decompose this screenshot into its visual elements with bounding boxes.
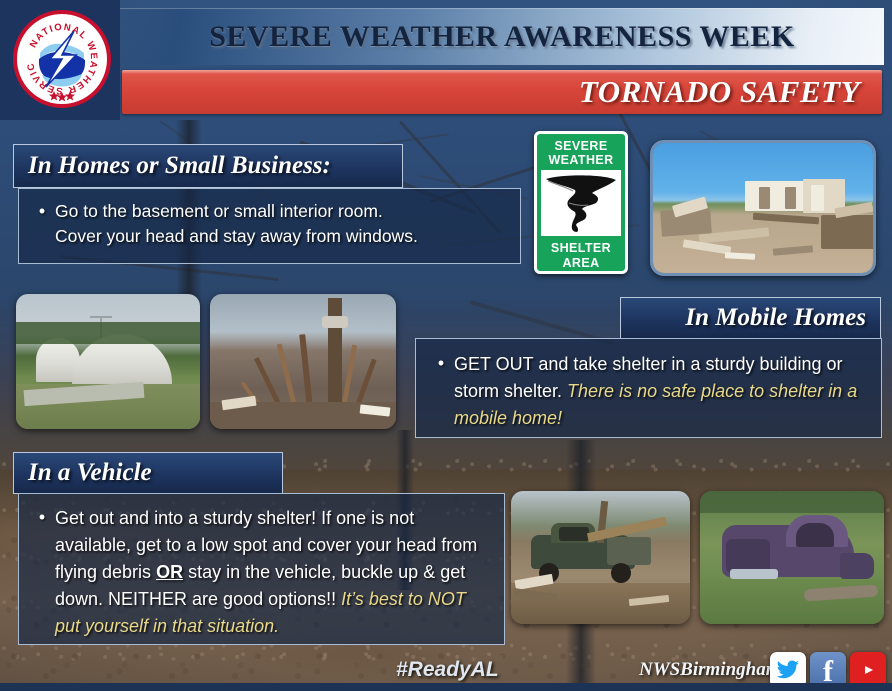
photo-destroyed-house [650,140,876,276]
mobile-heading-label: In Mobile Homes [685,304,866,332]
photo-tornado-debris [210,294,396,429]
sign-line-2: WEATHER [548,153,613,167]
vehicle-text-or: OR [156,562,183,582]
section-heading-mobile-homes: In Mobile Homes [620,297,881,339]
photo-crushed-car [700,491,884,624]
sign-line-3: SHELTER [551,241,611,255]
sign-line-4: AREA [562,256,599,270]
homes-body-text: Go to the basement or small interior roo… [55,199,418,249]
bottom-accent-strip [0,683,892,691]
youtube-play-glyph [857,662,879,678]
section-heading-vehicle: In a Vehicle [13,452,283,494]
logo-panel: NATIONAL WEATHER SERVICE [0,0,120,120]
section-body-homes: • Go to the basement or small interior r… [18,188,521,264]
section-body-vehicle: • Get out and into a sturdy shelter! If … [18,493,505,645]
bullet-icon: • [29,199,55,249]
vehicle-heading-label: In a Vehicle [28,459,152,487]
section-body-mobile-homes: • GET OUT and take shelter in a sturdy b… [415,338,882,438]
infographic-poster: NATIONAL WEATHER SERVICE SEVERE WEATHER … [0,0,892,691]
vehicle-body-text: Get out and into a sturdy shelter! If on… [55,505,492,640]
bullet-icon: • [428,351,454,432]
nws-logo-icon: NATIONAL WEATHER SERVICE [12,9,112,109]
sign-line-1: SEVERE [554,139,607,153]
mobile-body-text: GET OUT and take shelter in a sturdy bui… [454,351,867,432]
homes-text-line2: Cover your head and stay away from windo… [55,226,418,246]
office-handle-label: NWSBirmingham [639,659,781,681]
poster-subtitle-bar: TORNADO SAFETY [122,70,882,114]
photo-damaged-pickup-truck [511,491,690,624]
tornado-icon [541,170,621,236]
homes-heading-label: In Homes or Small Business: [28,152,331,180]
poster-title-bar: SEVERE WEATHER AWARENESS WEEK [120,8,884,65]
section-heading-homes: In Homes or Small Business: [13,144,403,188]
page-subtitle: TORNADO SAFETY [579,74,882,110]
bullet-icon: • [29,505,55,640]
photo-storm-shelters [16,294,200,429]
twitter-bird-glyph [776,660,800,680]
severe-weather-shelter-sign: SEVERE WEATHER SHELTER AREA [534,131,628,274]
page-title: SEVERE WEATHER AWARENESS WEEK [209,20,795,54]
homes-text-line1: Go to the basement or small interior roo… [55,201,383,221]
hashtag-label: #ReadyAL [396,658,499,682]
